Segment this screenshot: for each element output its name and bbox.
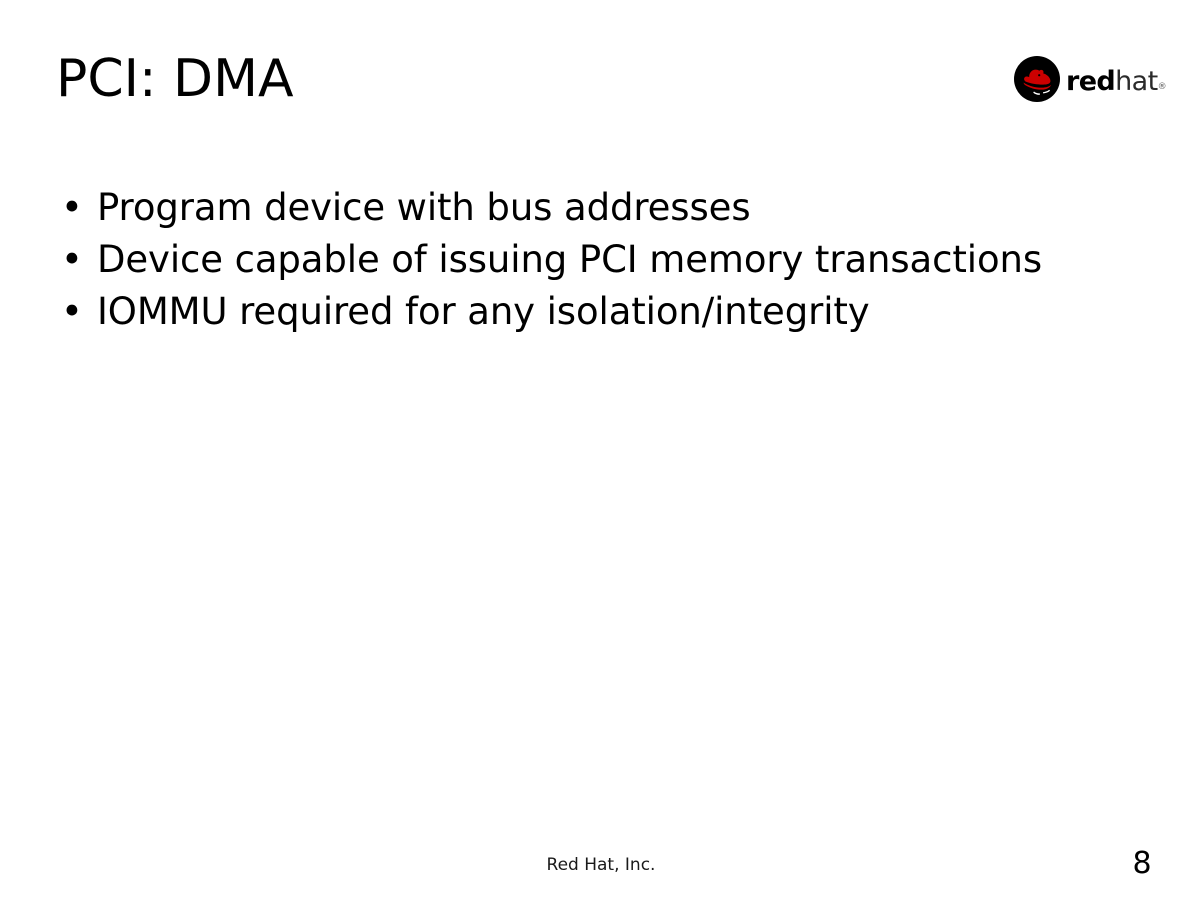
slide-footer: Red Hat, Inc. [0,855,1200,875]
list-item: • Device capable of issuing PCI memory t… [56,238,1136,290]
wordmark-hat: hat [1115,66,1157,97]
bullet-marker-icon: • [56,186,97,230]
bullet-text: Device capable of issuing PCI memory tra… [97,238,1136,282]
list-item: • IOMMU required for any isolation/integ… [56,290,1136,342]
bullet-list: • Program device with bus addresses • De… [56,186,1136,342]
redhat-wordmark: redhat® [1066,68,1166,95]
redhat-logo: redhat® [1012,54,1184,104]
bullet-marker-icon: • [56,238,97,282]
bullet-marker-icon: • [56,290,97,334]
bullet-text: Program device with bus addresses [97,186,1136,230]
trademark-symbol: ® [1158,82,1166,92]
slide: PCI: DMA redhat® • Program device w [0,0,1200,900]
footer-text: Red Hat, Inc. [547,855,656,875]
wordmark-red: red [1066,66,1115,97]
list-item: • Program device with bus addresses [56,186,1136,238]
page-title: PCI: DMA [56,52,294,107]
redhat-shadowman-icon [1012,54,1062,104]
bullet-text: IOMMU required for any isolation/integri… [97,290,1136,334]
page-number: 8 [1120,847,1164,881]
